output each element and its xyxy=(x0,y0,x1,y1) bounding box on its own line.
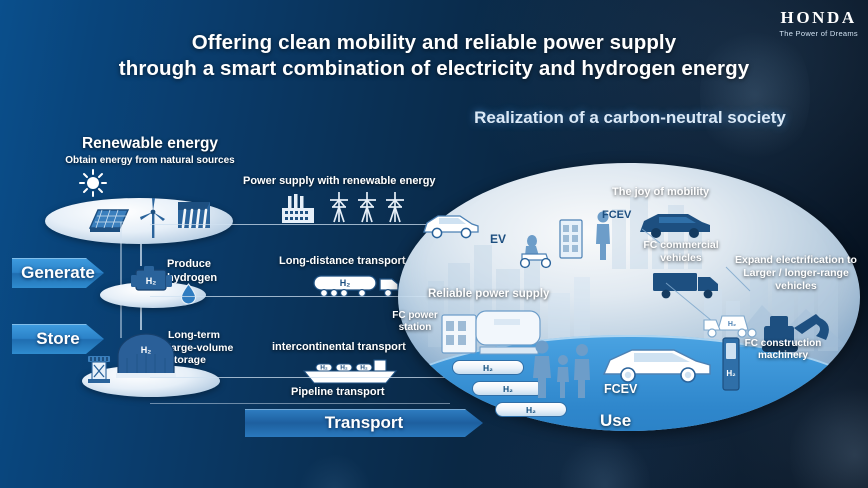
stage-banner-generate[interactable]: Generate xyxy=(12,258,104,288)
fc-power-station-line-2: station xyxy=(386,322,444,334)
h2-tank-label: H₂ xyxy=(526,405,536,415)
svg-text:H₂: H₂ xyxy=(146,276,157,286)
hydrogen-dispenser-icon: H₂ xyxy=(718,336,744,394)
fc-truck-icon xyxy=(650,268,726,302)
power-supply-label: Power supply with renewable energy xyxy=(243,175,436,187)
fcev-bottom-label: FCEV xyxy=(604,382,637,396)
fc-commercial-line-2: vehicles xyxy=(633,252,729,265)
stage-banner-transport-label: Transport xyxy=(325,413,403,433)
reliable-power-supply-label: Reliable power supply xyxy=(428,288,549,300)
svg-text:H₂: H₂ xyxy=(360,365,368,372)
family-group-icon xyxy=(528,338,598,400)
sun-icon xyxy=(78,168,108,198)
svg-text:H₂: H₂ xyxy=(340,365,348,372)
h2-tank: H₂ xyxy=(495,402,567,417)
h2-tank-label: H₂ xyxy=(503,384,513,394)
svg-text:H₂: H₂ xyxy=(340,278,351,288)
infographic-canvas: HONDA The Power of Dreams Offering clean… xyxy=(0,0,868,488)
renewable-energy-subtitle: Obtain energy from natural sources xyxy=(30,155,270,166)
hydro-dam-icon xyxy=(176,198,216,236)
bokeh-light xyxy=(560,430,650,488)
subtitle: Realization of a carbon-neutral society xyxy=(430,108,830,128)
fcev-sedan-icon xyxy=(598,340,718,388)
cargo-ship-icon: H₂H₂H₂ xyxy=(300,357,404,385)
h2-tank-label: H₂ xyxy=(483,363,493,373)
transmission-tower-icon xyxy=(327,190,351,226)
compressor-icon xyxy=(84,348,122,388)
bokeh-light xyxy=(300,450,370,488)
fc-power-station-label: FC power station xyxy=(386,310,444,334)
water-drop-icon xyxy=(180,283,197,304)
fc-power-station-line-1: FC power xyxy=(386,310,444,322)
electrolyzer-icon: H₂ xyxy=(128,264,176,296)
connector-line xyxy=(140,306,142,330)
page-title: Offering clean mobility and reliable pow… xyxy=(0,30,868,82)
renewable-energy-title: Renewable energy xyxy=(40,135,260,153)
expand-electrification-label: Expand electrification to Larger / longe… xyxy=(726,254,866,293)
fcev-top-label: FCEV xyxy=(602,209,631,221)
battery-exchanger-icon xyxy=(556,218,588,266)
joy-of-mobility-label: The joy of mobility xyxy=(612,186,709,198)
solar-panel-icon xyxy=(84,202,130,236)
expand-line-2: Larger / longer-range vehicles xyxy=(726,267,866,293)
fc-commercial-vehicles-label: FC commercial vehicles xyxy=(633,239,729,264)
produce-hydrogen-text: Produce hydrogen xyxy=(167,257,245,285)
title-line-1: Offering clean mobility and reliable pow… xyxy=(0,30,868,56)
fcev-suv-icon xyxy=(636,206,714,242)
svg-text:H₂: H₂ xyxy=(141,345,152,355)
expand-line-1: Expand electrification to xyxy=(726,254,866,267)
ev-label: EV xyxy=(490,232,506,246)
intercontinental-transport-label: intercontinental transport xyxy=(272,341,406,353)
fc-commercial-line-1: FC commercial xyxy=(633,239,729,252)
long-distance-transport-label: Long-distance transport xyxy=(279,255,406,267)
ev-hatchback-icon xyxy=(420,208,482,242)
use-label: Use xyxy=(600,411,631,431)
fc-construction-machinery-label: FC construction machinery xyxy=(728,338,838,362)
wind-turbine-icon xyxy=(137,196,169,240)
electric-scooter-icon xyxy=(512,234,560,270)
honda-wordmark: HONDA xyxy=(779,8,858,28)
svg-text:H₂: H₂ xyxy=(726,369,736,378)
pipeline-transport-label: Pipeline transport xyxy=(291,386,385,398)
svg-text:H₂: H₂ xyxy=(728,321,736,328)
title-line-2: through a smart combination of electrici… xyxy=(0,56,868,82)
fc-construction-line-2: machinery xyxy=(728,350,838,362)
stage-banner-store-label: Store xyxy=(36,329,79,349)
produce-hydrogen-label: Produce hydrogen xyxy=(167,257,245,285)
svg-text:H₂: H₂ xyxy=(320,365,328,372)
transmission-tower-icon xyxy=(355,190,379,226)
connector-line xyxy=(120,222,122,338)
stage-banner-generate-label: Generate xyxy=(21,263,95,283)
h2-tank: H₂ xyxy=(452,360,524,375)
connector-line xyxy=(140,244,142,266)
fc-construction-line-1: FC construction xyxy=(728,338,838,350)
power-plant-icon xyxy=(279,192,321,226)
